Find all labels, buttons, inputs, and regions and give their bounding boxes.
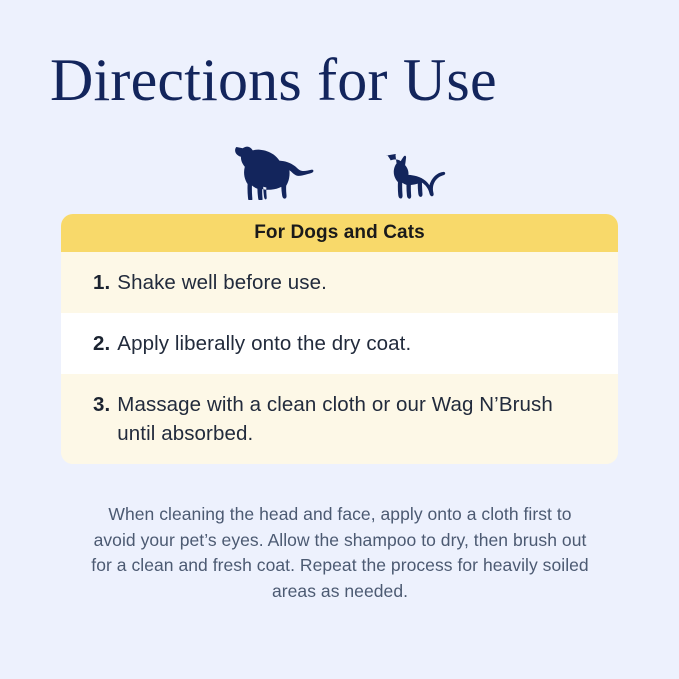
steps-list: 1. Shake well before use. 2. Apply liber… [61, 252, 618, 464]
card-header: For Dogs and Cats [61, 214, 618, 252]
directions-for-use-page: Directions for Use For Dogs and Cats 1. … [0, 0, 679, 679]
directions-card: For Dogs and Cats 1. Shake well before u… [61, 214, 618, 464]
dog-silhouette-icon [227, 144, 317, 200]
pet-icons-row [0, 138, 679, 200]
step-number: 1. [93, 268, 110, 297]
step-text: Shake well before use. [117, 268, 588, 297]
step-text: Apply liberally onto the dry coat. [117, 329, 588, 358]
step-number: 2. [93, 329, 110, 358]
list-item: 2. Apply liberally onto the dry coat. [61, 313, 618, 374]
footnote-text: When cleaning the head and face, apply o… [90, 502, 590, 604]
step-number: 3. [93, 390, 110, 419]
cat-silhouette-icon [375, 154, 453, 200]
list-item: 3. Massage with a clean cloth or our Wag… [61, 374, 618, 464]
step-text: Massage with a clean cloth or our Wag N’… [117, 390, 588, 448]
page-title: Directions for Use [50, 44, 497, 116]
list-item: 1. Shake well before use. [61, 252, 618, 313]
